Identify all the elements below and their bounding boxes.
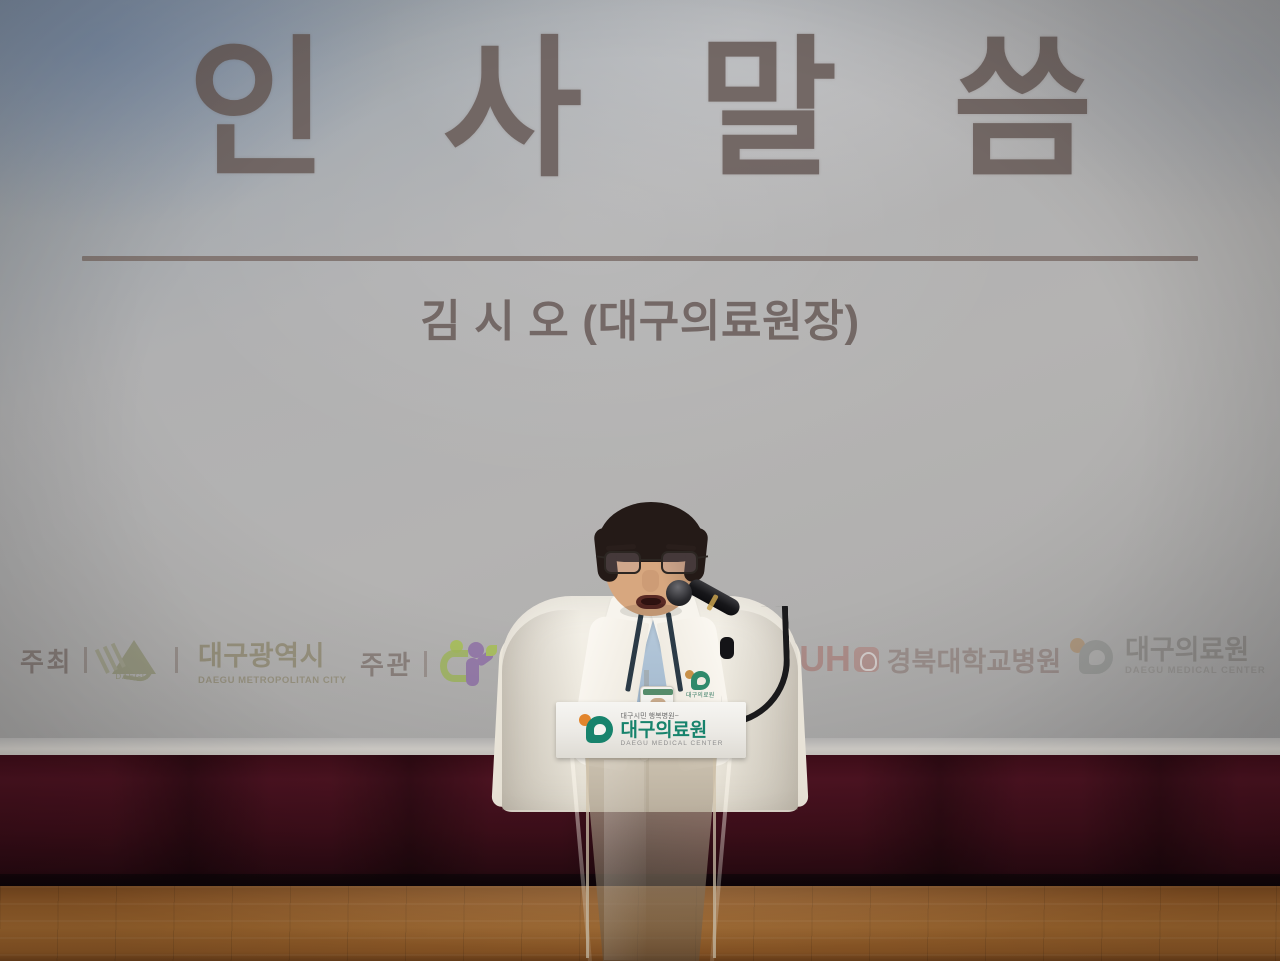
lectern-sign-text-group: 대구시민 행복병원~ 대구의료원 DAEGU MEDICAL CENTER bbox=[621, 713, 724, 748]
daegu-city-logo-icon: DAEGU bbox=[98, 638, 164, 682]
speaker-nose bbox=[642, 570, 659, 592]
dmc-name-group: 대구의료원 DAEGU MEDICAL CENTER bbox=[1125, 636, 1266, 676]
host-name-en: DAEGU METROPOLITAN CITY bbox=[198, 675, 347, 686]
organizer-label: 주관 bbox=[360, 645, 413, 682]
organizer-logo-icon bbox=[438, 638, 500, 690]
dmc-name-ko: 대구의료원 bbox=[1125, 636, 1266, 664]
dmc-screen-block: 대구의료원 DAEGU MEDICAL CENTER bbox=[1070, 634, 1266, 678]
daegu-logo-word: DAEGU bbox=[104, 672, 160, 681]
slide-subtitle: 김 시 오 (대구의료원장) bbox=[0, 297, 1280, 348]
slide-title: 인 사 말 씀 bbox=[0, 34, 1280, 186]
slide-divider-rule bbox=[82, 256, 1198, 261]
microphone-clip bbox=[720, 637, 734, 659]
dmc-name-en: DAEGU MEDICAL CENTER bbox=[1125, 666, 1266, 676]
lectern-tagline: 대구시민 행복병원~ bbox=[621, 713, 724, 720]
lectern: 대구시민 행복병원~ 대구의료원 DAEGU MEDICAL CENTER bbox=[556, 702, 746, 961]
lectern-body bbox=[576, 756, 726, 961]
host-name-group: 대구광역시 DAEGU METROPOLITAN CITY bbox=[198, 634, 347, 686]
host-name-ko: 대구광역시 bbox=[198, 634, 347, 673]
organizer-separator bbox=[424, 651, 427, 677]
dmc-monogram-icon bbox=[1070, 634, 1116, 678]
host-label: 주최 bbox=[20, 642, 73, 679]
knuh-name-ko: 경북대학교병원 bbox=[887, 640, 1062, 679]
photo-scene: 인 사 말 씀 김 시 오 (대구의료원장) 주최 DAEGU 대구광역시 DA… bbox=[0, 0, 1280, 961]
host-block: 주최 DAEGU 대구광역시 DAEGU METROPOLITAN CITY bbox=[20, 634, 347, 686]
host-separator-2 bbox=[175, 647, 178, 673]
host-separator bbox=[84, 647, 87, 673]
knuh-emblem-icon bbox=[854, 647, 879, 672]
lectern-name-ko: 대구의료원 bbox=[621, 721, 724, 740]
lectern-name-en: DAEGU MEDICAL CENTER bbox=[621, 741, 724, 748]
lectern-dmc-logo-icon bbox=[579, 713, 615, 747]
